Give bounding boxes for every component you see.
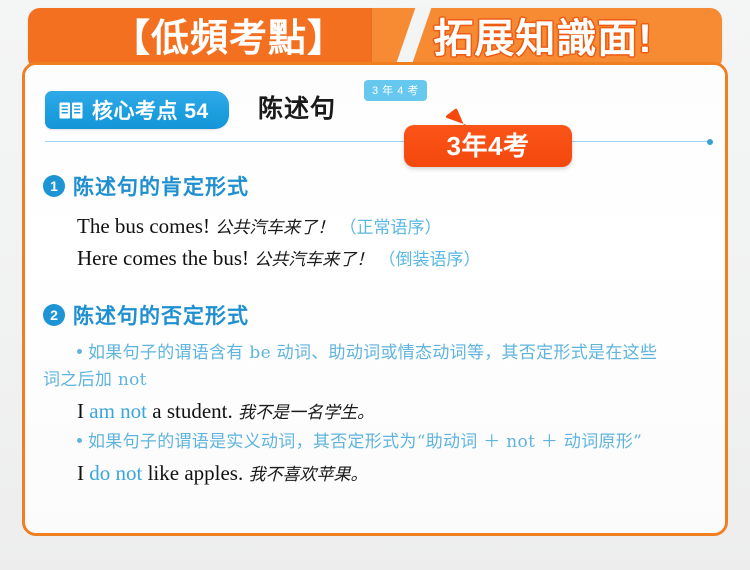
example-en-post: a student. [147, 399, 233, 423]
header-divider-dot [707, 139, 713, 145]
card-inner: 核心考点 54 陈述句 3 年 4 考 1 陈述句的肯定形式 The bus c… [25, 65, 725, 533]
rule-text: 如果句子的谓语是实义动词，其否定形式为“助动词 ＋ not ＋ 动词原形” [88, 432, 642, 452]
example-en-highlight: am not [89, 399, 147, 423]
rule-line: 如果句子的谓语含有 be 动词、助动词或情态动词等，其否定形式是在这些 [77, 340, 725, 367]
frequency-tag: 3 年 4 考 [364, 80, 427, 101]
rule-line-continued: 词之后加 not [43, 367, 725, 394]
page-root: 【低頻考點】 拓展知識面! [0, 0, 750, 570]
section-number-1: 1 [43, 175, 65, 197]
example-note: （正常语序） [339, 218, 441, 238]
example-cn: 公共汽车来了！ [254, 250, 373, 270]
rule-text: 如果句子的谓语含有 be 动词、助动词或情态动词等，其否定形式是在这些 [88, 343, 657, 363]
callout-label: 3年4考 [404, 125, 572, 167]
topic-title: 陈述句 [258, 89, 336, 125]
bullet-icon [77, 438, 82, 443]
example-line: I do not like apples. 我不喜欢苹果。 [77, 458, 725, 488]
kaodian-badge-label: 核心考点 54 [92, 95, 209, 125]
example-cn: 我不喜欢苹果。 [248, 465, 367, 485]
example-en-pre: I [77, 399, 89, 423]
book-icon [59, 102, 83, 119]
example-line: The bus comes! 公共汽车来了！ （正常语序） [77, 211, 725, 241]
section-number-2: 2 [43, 304, 65, 326]
section-title-2: 陈述句的否定形式 [73, 300, 249, 330]
top-banner: 【低頻考點】 拓展知識面! [28, 8, 722, 70]
banner-left-title: 【低頻考點】 [54, 12, 404, 66]
example-note: （倒装语序） [379, 250, 481, 270]
section-heading-1: 1 陈述句的肯定形式 [43, 171, 725, 201]
example-en: Here comes the bus! [77, 246, 249, 270]
bullet-icon [77, 349, 82, 354]
banner-right-title: 拓展知識面! [378, 11, 708, 67]
example-line: Here comes the bus! 公共汽车来了！ （倒装语序） [77, 243, 725, 273]
example-en: The bus comes! [77, 214, 210, 238]
example-en-pre: I [77, 461, 89, 485]
card-header-row: 核心考点 54 陈述句 3 年 4 考 [25, 89, 725, 141]
rule-text: 词之后加 not [43, 370, 147, 390]
example-en-post: like apples. [142, 461, 243, 485]
section-title-1: 陈述句的肯定形式 [73, 171, 249, 201]
card-content: 1 陈述句的肯定形式 The bus comes! 公共汽车来了！ （正常语序）… [25, 169, 725, 488]
callout-bubble[interactable]: 3年4考 [404, 125, 572, 167]
example-en-highlight: do not [89, 461, 142, 485]
content-card: 核心考点 54 陈述句 3 年 4 考 1 陈述句的肯定形式 The bus c… [22, 62, 728, 536]
rule-line: 如果句子的谓语是实义动词，其否定形式为“助动词 ＋ not ＋ 动词原形” [77, 429, 725, 456]
section-heading-2: 2 陈述句的否定形式 [43, 300, 725, 330]
example-line: I am not a student. 我不是一名学生。 [77, 396, 725, 426]
example-cn: 公共汽车来了！ [215, 218, 334, 238]
header-divider-line [45, 141, 709, 142]
example-cn: 我不是一名学生。 [238, 403, 374, 423]
kaodian-badge[interactable]: 核心考点 54 [45, 91, 229, 129]
